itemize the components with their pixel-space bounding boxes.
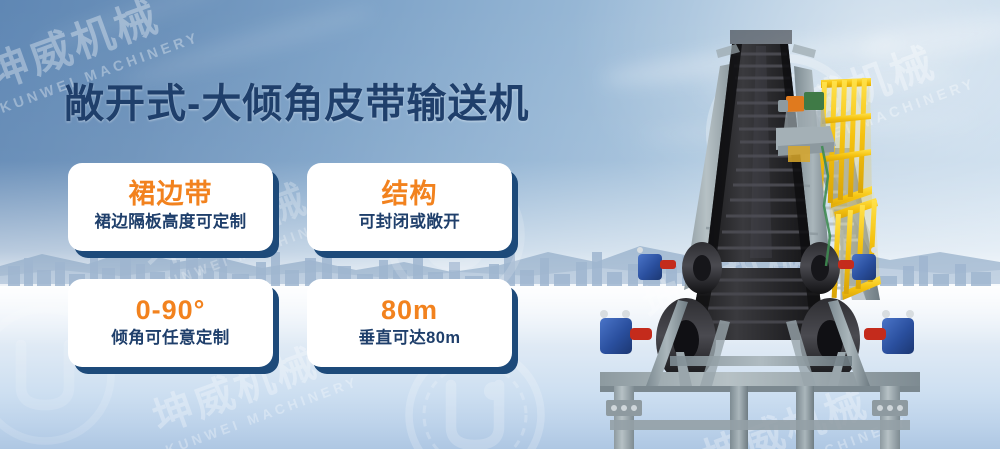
feature-card-desc: 倾角可任意定制 [111, 329, 229, 348]
feature-card-title: 0-90° [136, 296, 206, 326]
feature-card-row: 0-90° 倾角可任意定制 80m 垂直可达80m [68, 279, 538, 367]
feature-card-skirt-belt[interactable]: 裙边带 裙边隔板高度可定制 [68, 163, 273, 251]
feature-card-row: 裙边带 裙边隔板高度可定制 结构 可封闭或敞开 [68, 163, 538, 251]
feature-card-height[interactable]: 80m 垂直可达80m [307, 279, 512, 367]
product-banner: 坤威机械 KUNWEI MACHINERY 坤威机械 KUNWEI MACHIN… [0, 0, 1000, 449]
page-title: 敞开式-大倾角皮带输送机 [64, 80, 529, 128]
feature-cards: 裙边带 裙边隔板高度可定制 结构 可封闭或敞开 0-90° 倾角可任意定制 80… [68, 163, 538, 367]
feature-card-desc: 可封闭或敞开 [359, 213, 460, 232]
feature-card-title: 裙边带 [129, 180, 213, 210]
feature-card-desc: 垂直可达80m [359, 329, 461, 348]
feature-card-title: 80m [381, 296, 438, 326]
feature-card-title: 结构 [382, 180, 438, 210]
conveyor-machine-photo [580, 0, 1000, 449]
feature-card-angle[interactable]: 0-90° 倾角可任意定制 [68, 279, 273, 367]
feature-card-desc: 裙边隔板高度可定制 [94, 213, 246, 232]
feature-card-structure[interactable]: 结构 可封闭或敞开 [307, 163, 512, 251]
